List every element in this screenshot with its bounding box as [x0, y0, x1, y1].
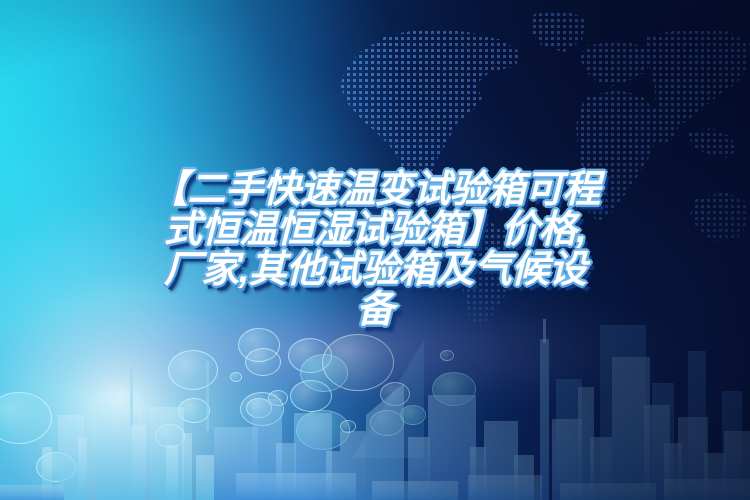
promo-banner: 【二手快速温变试验箱可程 式恒温恒湿试验箱】价格, 厂家,其他试验箱及气候设 备: [0, 0, 750, 500]
background-vignette: [0, 0, 750, 500]
